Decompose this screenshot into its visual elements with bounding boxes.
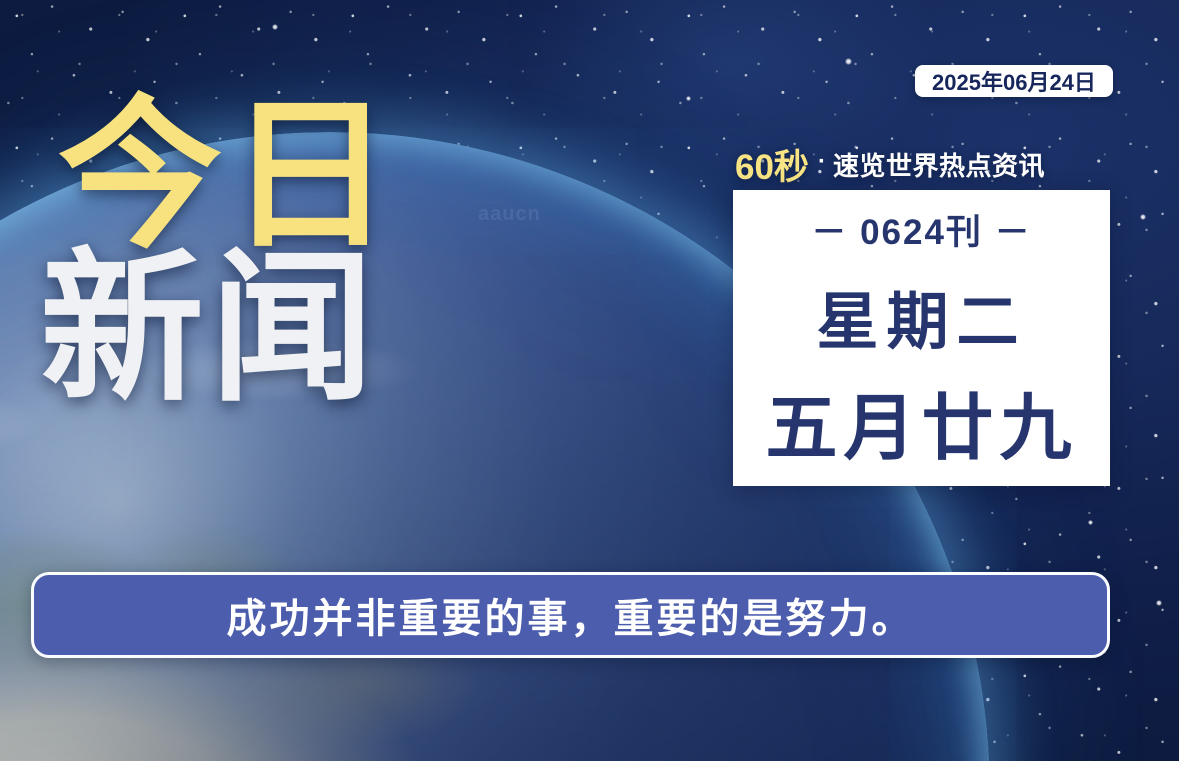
headline-line-news: 新闻 [40, 249, 488, 408]
star-accent [1140, 214, 1146, 220]
tagline: 60秒 · 速览世界热点资讯 [735, 142, 1113, 186]
tagline-seconds: 60秒 [735, 139, 809, 190]
quote-text: 成功并非重要的事，重要的是努力。 [227, 586, 915, 644]
star-accent [845, 58, 852, 65]
headline-line-today: 今日 [58, 96, 488, 255]
date-badge: 2025年06月24日 [915, 65, 1113, 97]
star-accent [1088, 520, 1093, 525]
issue-number: － 0624刊 － [811, 204, 1031, 255]
day-card: － 0624刊 － 星期二 五月廿九 [733, 190, 1110, 486]
date-badge-label: 2025年06月24日 [932, 65, 1096, 97]
news-poster: aaucn 今日 新闻 2025年06月24日 60秒 · 速览世界热点资讯 －… [0, 0, 1179, 761]
tagline-separator-dot: · [818, 148, 826, 176]
lunar-date-label: 五月廿九 [765, 369, 1077, 474]
star-accent [1156, 600, 1162, 606]
tagline-description: 速览世界热点资讯 [833, 146, 1045, 183]
weekday-label: 星期二 [816, 271, 1026, 361]
headline-block: 今日 新闻 [58, 96, 488, 408]
quote-banner: 成功并非重要的事，重要的是努力。 [31, 572, 1110, 658]
star-accent [686, 96, 691, 101]
star-accent [272, 24, 278, 30]
